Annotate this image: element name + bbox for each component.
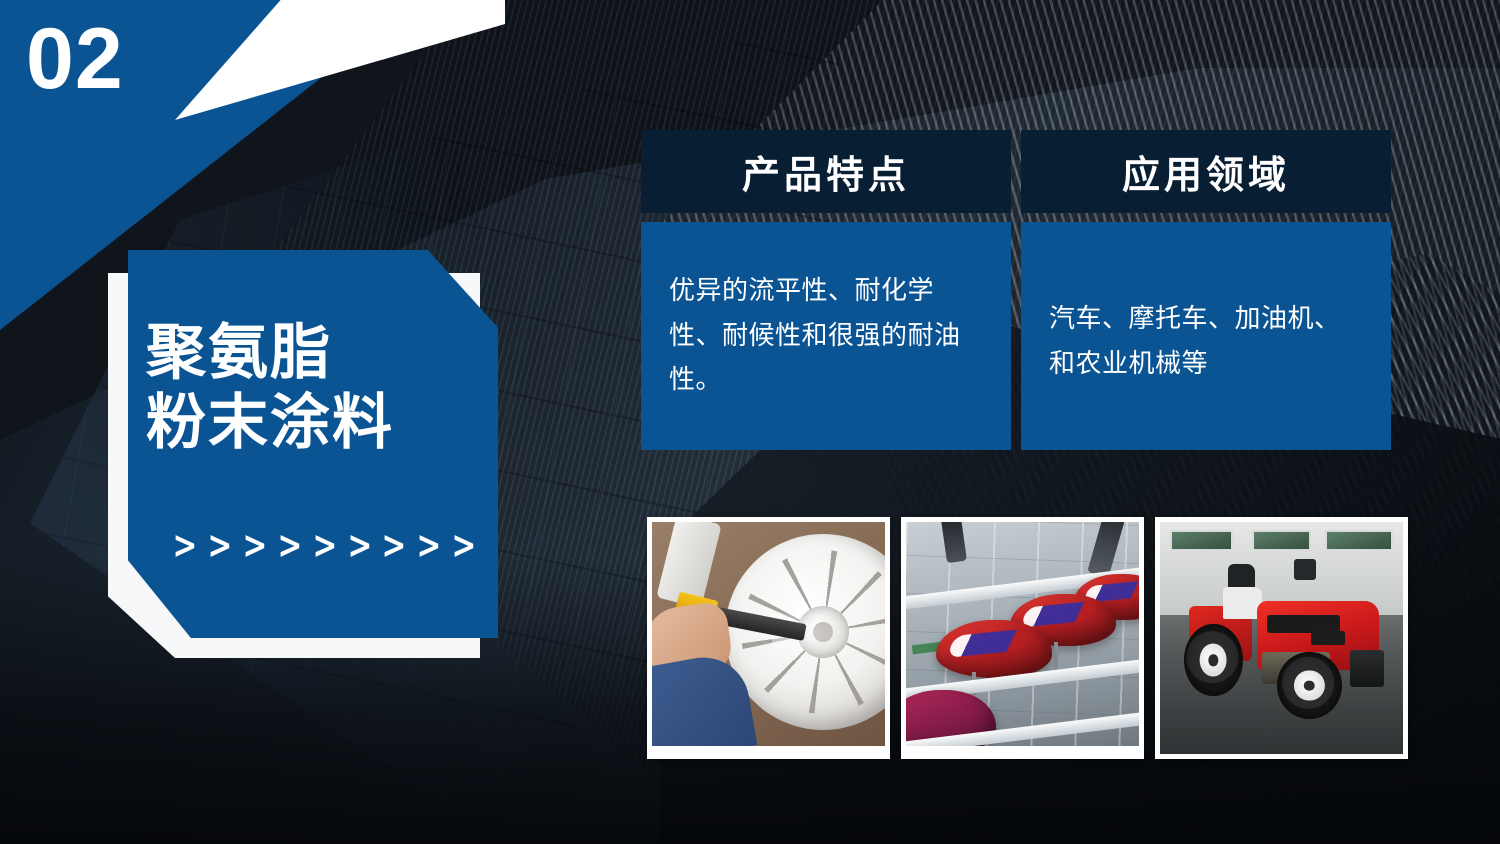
slide-canvas: 02 聚氨脂 粉末涂料 > > > > > > > > > 产品特点 优异的流平… xyxy=(0,0,1500,844)
tractor-mirror xyxy=(1294,559,1316,580)
title-text-wrap: 聚氨脂 粉末涂料 xyxy=(146,318,394,457)
panel-product-features: 产品特点 优异的流平性、耐化学性、耐候性和很强的耐油性。 xyxy=(641,130,1011,450)
info-panel-group: 产品特点 优异的流平性、耐化学性、耐候性和很强的耐油性。 应用领域 汽车、摩托车… xyxy=(641,130,1392,450)
tire-hub xyxy=(1209,654,1218,666)
chevron-right-icon: > xyxy=(312,526,337,564)
chevron-arrow-row: > > > > > > > > > xyxy=(169,526,480,564)
chevron-right-icon: > xyxy=(382,526,407,564)
tank-stripe xyxy=(1021,601,1097,628)
building-window xyxy=(1252,530,1310,551)
tank-stripe xyxy=(948,628,1032,658)
photo-strip xyxy=(647,517,1408,759)
chevron-right-icon: > xyxy=(452,526,477,564)
chevron-right-icon: > xyxy=(417,526,442,564)
photo-red-tractor xyxy=(1160,522,1403,754)
chevron-right-icon: > xyxy=(243,526,268,564)
title-line-1: 聚氨脂 xyxy=(146,318,394,388)
fuel-tank xyxy=(936,620,1052,678)
photo-tank-coating-line xyxy=(906,522,1139,746)
panel-body-application-fields: 汽车、摩托车、加油机、和农业机械等 xyxy=(1021,222,1391,450)
tractor-badge xyxy=(1311,631,1345,645)
panel-body-text: 优异的流平性、耐化学性、耐候性和很强的耐油性。 xyxy=(669,268,983,402)
panel-heading-text: 产品特点 xyxy=(742,144,910,199)
panel-body-product-features: 优异的流平性、耐化学性、耐候性和很强的耐油性。 xyxy=(641,222,1011,450)
photo-frame-tank-coating-line xyxy=(901,517,1144,759)
panel-header-application-fields: 应用领域 xyxy=(1021,130,1391,213)
tractor-rear-tire xyxy=(1184,624,1242,696)
panel-header-product-features: 产品特点 xyxy=(641,130,1011,213)
panel-heading-text: 应用领域 xyxy=(1122,144,1290,199)
tractor-front-tire xyxy=(1277,652,1343,719)
chevron-right-icon: > xyxy=(347,526,372,564)
tractor-front-weight xyxy=(1350,650,1384,687)
photo-frame-wheel-spraying xyxy=(647,517,890,759)
section-number: 02 xyxy=(26,16,124,102)
chevron-right-icon: > xyxy=(277,526,302,564)
building-window xyxy=(1170,530,1233,551)
title-line-2: 粉末涂料 xyxy=(146,388,394,458)
title-card: 聚氨脂 粉末涂料 > > > > > > > > > xyxy=(128,250,498,638)
panel-application-fields: 应用领域 汽车、摩托车、加油机、和农业机械等 xyxy=(1021,130,1391,450)
chevron-right-icon: > xyxy=(208,526,233,564)
photo-wheel-spraying xyxy=(652,522,885,746)
building-window xyxy=(1325,530,1393,551)
photo-frame-red-tractor xyxy=(1155,517,1408,759)
chevron-right-icon: > xyxy=(173,526,198,564)
panel-body-text: 汽车、摩托车、加油机、和农业机械等 xyxy=(1049,268,1363,385)
